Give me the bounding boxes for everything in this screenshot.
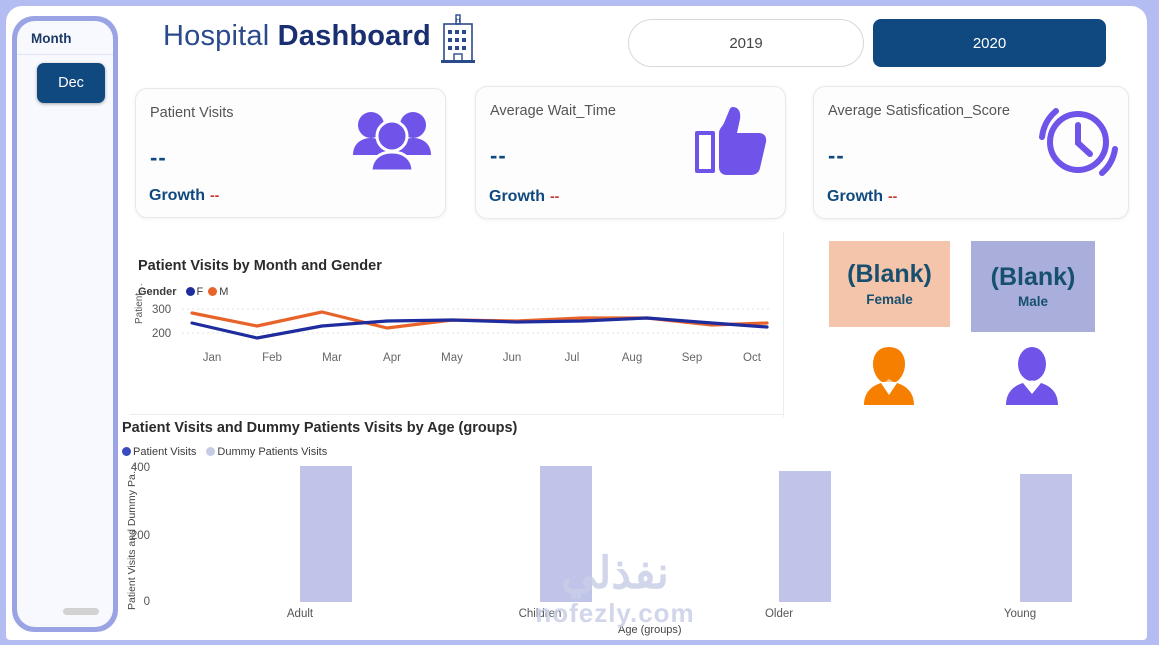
kpi-growth-label: Growth — [827, 188, 883, 205]
bar-chart-ytick-200: 200 — [124, 530, 150, 542]
legend-swatch-f — [186, 287, 195, 296]
line-chart-title: Patient Visits by Month and Gender — [138, 258, 382, 274]
legend-item-dummy-patients-visits[interactable]: Dummy Patients Visits — [206, 446, 327, 458]
legend-item-f[interactable]: F — [186, 286, 204, 298]
bar-chart-xtick: Adult — [260, 608, 340, 620]
month-slicer-item-dec[interactable]: Dec — [37, 63, 105, 103]
line-chart-ytick-200: 200 — [152, 328, 171, 340]
bar-chart-ytick-400: 400 — [124, 462, 150, 474]
bar-chart-xtick: Young — [980, 608, 1060, 620]
line-chart-xtick: Jul — [542, 352, 602, 364]
month-slicer-panel: Month Dec — [12, 16, 118, 632]
kpi-growth-value: -- — [550, 188, 559, 204]
line-chart-xtick: Sep — [662, 352, 722, 364]
legend-label-patient-visits: Patient Visits — [133, 446, 196, 458]
kpi-card-patient-visits[interactable]: Patient Visits -- Growth-- — [135, 88, 446, 218]
kpi-value: -- — [150, 145, 167, 171]
legend-label-f: F — [197, 286, 204, 298]
line-chart-xtick: Jun — [482, 352, 542, 364]
line-chart-xtick: May — [422, 352, 482, 364]
gender-card-label: Male — [1018, 294, 1048, 309]
gender-card-label: Female — [866, 292, 913, 307]
people-group-icon — [349, 103, 435, 181]
kpi-growth-value: -- — [888, 188, 897, 204]
panel-divider-vertical — [783, 232, 784, 417]
dashboard-root: Month Dec Hospital Dashboard H 2019 2020… — [0, 0, 1159, 645]
kpi-growth: Growth-- — [149, 187, 219, 205]
bar-older[interactable] — [779, 471, 831, 602]
kpi-label: Average Wait_Time — [490, 103, 616, 119]
kpi-label: Average Satisfication_Score — [828, 103, 1010, 119]
kpi-growth: Growth-- — [489, 188, 559, 206]
line-chart-xtick: Feb — [242, 352, 302, 364]
line-chart-ytick-300: 300 — [152, 304, 171, 316]
kpi-value: -- — [828, 143, 845, 169]
bar-chart-xtick: Children — [500, 608, 580, 620]
kpi-value: -- — [490, 143, 507, 169]
legend-swatch-m — [208, 287, 217, 296]
line-chart-y-axis-label: Patient… — [134, 283, 145, 324]
bar-young[interactable] — [1020, 474, 1072, 602]
bar-chart-xtick: Older — [739, 608, 819, 620]
line-chart-patient-visits-by-month-gender[interactable]: Patient Visits by Month and Gender Gende… — [130, 240, 783, 415]
svg-text:H: H — [456, 18, 460, 24]
bar-chart-plot — [154, 462, 1134, 602]
bar-adult[interactable] — [300, 466, 352, 602]
thumbs-up-icon — [689, 101, 775, 179]
line-chart-xtick: Mar — [302, 352, 362, 364]
female-person-icon — [859, 345, 919, 407]
page-title-light: Hospital — [163, 20, 278, 52]
month-slicer-scrollbar[interactable] — [63, 608, 99, 615]
line-chart-xtick: Oct — [722, 352, 782, 364]
line-chart-plot — [182, 302, 772, 350]
gender-card-female[interactable]: (Blank) Female — [829, 241, 950, 327]
line-chart-xtick: Aug — [602, 352, 662, 364]
legend-item-m[interactable]: M — [208, 286, 228, 298]
legend-label-dummy-patients-visits: Dummy Patients Visits — [217, 446, 327, 458]
hospital-building-icon: H — [437, 14, 479, 66]
kpi-growth-label: Growth — [489, 188, 545, 205]
bar-children[interactable] — [540, 466, 592, 602]
bar-chart-x-axis-label: Age (groups) — [618, 624, 682, 636]
bar-chart-legend[interactable]: Patient Visits Dummy Patients Visits — [122, 446, 327, 458]
line-chart-xtick: Apr — [362, 352, 422, 364]
bar-chart-patient-visits-by-age[interactable]: Patient Visits and Dummy Patients Visits… — [118, 412, 1142, 644]
legend-swatch-patient-visits — [122, 447, 131, 456]
kpi-card-average-satisfication-score[interactable]: Average Satisfication_Score -- Growth-- — [813, 86, 1129, 219]
month-slicer-header: Month — [17, 21, 113, 55]
clock-icon — [1028, 99, 1120, 185]
year-button-2019[interactable]: 2019 — [628, 19, 864, 67]
line-chart-xtick: Jan — [182, 352, 242, 364]
kpi-label: Patient Visits — [150, 105, 234, 121]
male-person-icon — [1002, 345, 1062, 407]
gender-card-value: (Blank) — [991, 264, 1076, 290]
page-title-bold: Dashboard — [278, 20, 431, 52]
legend-label-m: M — [219, 286, 228, 298]
legend-item-patient-visits[interactable]: Patient Visits — [122, 446, 196, 458]
month-slicer-body: Month Dec — [17, 21, 113, 627]
kpi-growth: Growth-- — [827, 188, 897, 206]
line-chart-x-axis: Jan Feb Mar Apr May Jun Jul Aug Sep Oct — [182, 352, 782, 364]
gender-card-value: (Blank) — [847, 261, 932, 287]
kpi-card-average-wait-time[interactable]: Average Wait_Time -- Growth-- — [475, 86, 786, 219]
line-chart-legend[interactable]: Gender F M — [138, 286, 228, 298]
gender-card-male[interactable]: (Blank) Male — [971, 241, 1095, 332]
legend-swatch-dummy-patients-visits — [206, 447, 215, 456]
year-button-2020[interactable]: 2020 — [873, 19, 1106, 67]
kpi-growth-value: -- — [210, 187, 219, 203]
kpi-growth-label: Growth — [149, 187, 205, 204]
bar-chart-title: Patient Visits and Dummy Patients Visits… — [122, 420, 517, 436]
page-title: Hospital Dashboard — [163, 20, 431, 53]
bar-chart-ytick-0: 0 — [124, 596, 150, 608]
